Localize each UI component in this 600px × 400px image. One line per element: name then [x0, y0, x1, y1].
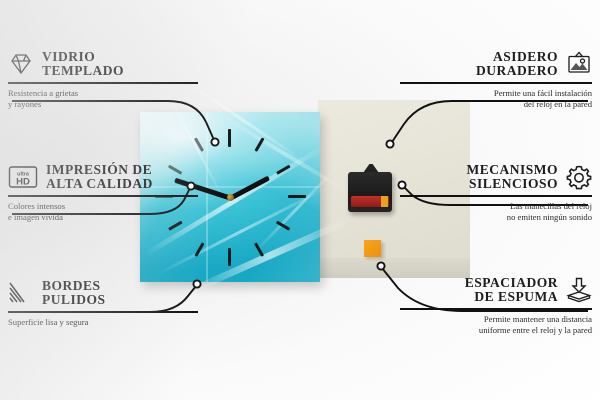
feature-asidero-duradero: ASIDERO DURADERO Permite una fácil insta…	[400, 50, 592, 110]
feature-title-line2: SILENCIOSO	[467, 177, 559, 191]
feature-desc-line1: Las manecillas del reloj	[400, 201, 592, 212]
feature-desc-line2: no emiten ningún sonido	[400, 212, 592, 223]
feature-espaciador-de-espuma: ESPACIADOR DE ESPUMA Permite mantener un…	[400, 276, 592, 336]
feature-title-line1: ASIDERO	[476, 50, 558, 64]
feature-desc-line2: uniforme entre el reloj y la pared	[400, 325, 592, 336]
feature-title-line2: DURADERO	[476, 64, 558, 78]
feature-title-line1: VIDRIO	[42, 50, 124, 64]
feature-title-line2: PULIDOS	[42, 293, 106, 307]
connector-dot-espaciador	[377, 262, 384, 269]
feature-desc-line1: Colores intensos	[8, 201, 198, 212]
feature-desc-line1: Permite mantener una distancia	[400, 314, 592, 325]
divider	[400, 82, 592, 84]
feature-title-line2: ALTA CALIDAD	[46, 177, 153, 191]
divider	[400, 195, 592, 197]
infographic-canvas: VIDRIO TEMPLADO Resistencia a grietas y …	[0, 0, 600, 400]
divider	[8, 82, 198, 84]
feature-title-line2: TEMPLADO	[42, 64, 124, 78]
connector-dot-vidrio	[211, 138, 218, 145]
feature-title-line1: MECANISMO	[467, 163, 559, 177]
diamond-icon	[8, 51, 34, 77]
feature-desc-line1: Resistencia a grietas	[8, 88, 198, 99]
wall-hanger-picture-icon	[566, 51, 592, 77]
feature-title-line1: IMPRESIÓN DE	[46, 163, 153, 177]
feature-mecanismo-silencioso: MECANISMO SILENCIOSO Las manecillas del …	[400, 163, 592, 223]
feature-vidrio-templado: VIDRIO TEMPLADO Resistencia a grietas y …	[8, 50, 198, 110]
gear-icon	[566, 164, 592, 190]
divider	[8, 195, 198, 197]
feature-desc-line2: e imagen vívida	[8, 212, 198, 223]
divider	[8, 311, 198, 313]
feature-impresion-alta-calidad: ultra HD IMPRESIÓN DE ALTA CALIDAD Color…	[8, 163, 198, 223]
connector-dot-asidero	[386, 140, 393, 147]
ultra-hd-big-label: HD	[16, 177, 30, 188]
feature-title-line2: DE ESPUMA	[465, 290, 558, 304]
feature-title-line1: BORDES	[42, 279, 106, 293]
ultra-hd-icon: ultra HD	[8, 164, 38, 190]
divider	[400, 308, 592, 310]
feature-bordes-pulidos: BORDES PULIDOS Superficie lisa y segura	[8, 279, 198, 328]
feature-desc-line2: del reloj en la pared	[400, 99, 592, 110]
feature-desc-line1: Superficie lisa y segura	[8, 317, 198, 328]
feature-desc-line2: y rayones	[8, 99, 198, 110]
polished-edges-icon	[8, 280, 34, 306]
feature-desc-line1: Permite una fácil instalación	[400, 88, 592, 99]
foam-spacer-arrow-icon	[566, 277, 592, 303]
feature-title-line1: ESPACIADOR	[465, 276, 558, 290]
